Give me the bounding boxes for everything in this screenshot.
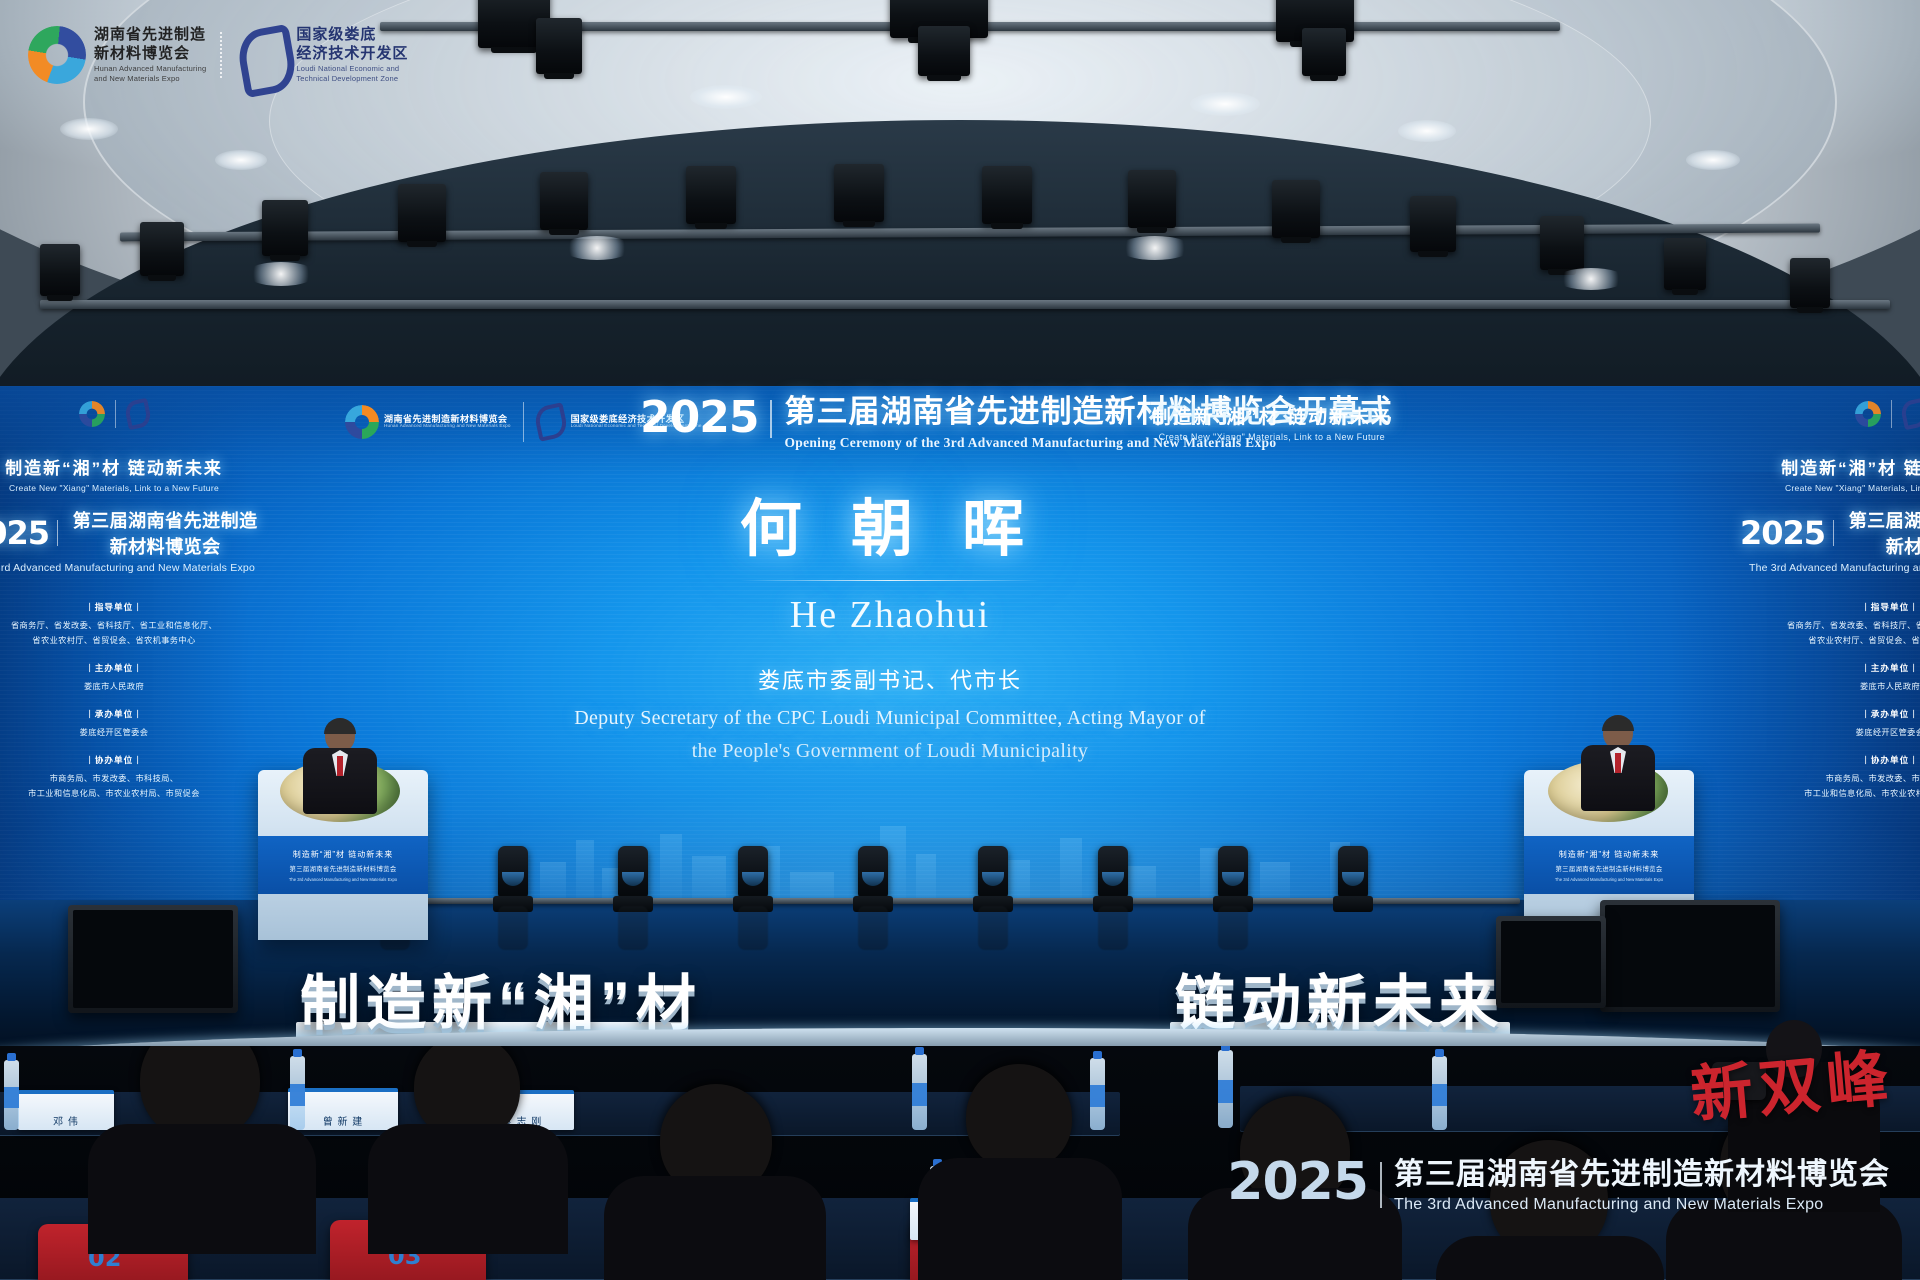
expo-wm-en-line2: and New Materials Expo: [94, 74, 206, 84]
side-slogan-en: Create New "Xiang" Materials, Link to a …: [0, 483, 264, 493]
unit-line: 省商务厅、省发改委、省科技厅、省工业和信息化厅、: [1740, 618, 1920, 633]
recessed-light: [690, 85, 762, 109]
lamp-glow: [562, 236, 632, 260]
confidence-monitor-center: [1496, 916, 1606, 1008]
unit-line: 省农业农村厅、省贸促会、省农机事务中心: [0, 633, 264, 648]
watermark-calligraphy: 新双峰: [1686, 1027, 1897, 1134]
stage-lamp: [1664, 238, 1706, 290]
audience-shoulders: [368, 1124, 568, 1254]
audience-shoulders: [88, 1124, 316, 1254]
lamp-glow: [1556, 268, 1626, 290]
moving-light-reflection: [498, 906, 528, 950]
audience-nameplate: 邓 伟: [18, 1090, 114, 1130]
moving-light-reflection: [1218, 906, 1248, 950]
side-title: 2025 第三届湖南省先进制造新材料博览会: [0, 507, 264, 559]
confidence-monitor-left: [68, 905, 238, 1013]
lamp-glow: [246, 262, 316, 286]
loudi-gf-icon: [536, 405, 566, 439]
loudi-watermark-text: 国家级娄底 经济技术开发区 Loudi National Economic an…: [296, 26, 408, 84]
podium-plate-line1: 制造新“湘”材 链动新未来: [293, 849, 394, 860]
watermark-year: 2025: [1227, 1158, 1368, 1207]
moving-light-reflection: [738, 906, 768, 950]
recessed-light: [215, 150, 267, 170]
logo-divider: [1891, 400, 1892, 428]
stage-lamp: [40, 244, 80, 296]
watermark-bottom-right: 2025 第三届湖南省先进制造新材料博览会 The 3rd Advanced M…: [1227, 1158, 1890, 1214]
speaker-at-podium-left: [300, 718, 380, 814]
side-slogan-cn: 制造新“湘”材 链动新未来: [0, 454, 264, 479]
watermark-title-cn: 第三届湖南省先进制造新材料博览会: [1394, 1158, 1890, 1191]
lighting-truss: [40, 300, 1890, 309]
name-divider: [740, 580, 1040, 581]
loudi-wm-cn-line1: 国家级娄底: [296, 26, 408, 45]
unit-line: 市商务局、市发改委、市科技局、: [1740, 771, 1920, 786]
nameplate-text: 曾 新 建: [323, 1113, 364, 1130]
stage-lamp: [834, 164, 884, 222]
loudi-wm-en-line2: Technical Development Zone: [296, 74, 408, 84]
slogan-en: Create New "Xiang" Materials, Link to a …: [1152, 432, 1392, 442]
unit-heading: 承办单位: [1740, 707, 1920, 723]
unit-line: 娄底经开区管委会: [1740, 725, 1920, 740]
moving-head-light: [618, 846, 648, 898]
stage-lamp: [1790, 258, 1830, 308]
unit-heading: 主办单位: [1740, 661, 1920, 677]
podium-plate: 制造新“湘”材 链动新未来 第三届湖南省先进制造新材料博览会 The 3rd A…: [258, 836, 428, 894]
unit-line: 省农业农村厅、省贸促会、省农机事务中心: [1740, 633, 1920, 648]
stage-lamp: [1272, 180, 1320, 238]
stage-lamp: [540, 172, 588, 230]
stage-lamp: [140, 222, 184, 276]
moving-head-light: [738, 846, 768, 898]
side-title-en: The 3rd Advanced Manufacturing and New M…: [1740, 562, 1920, 574]
side-slogan: 制造新“湘”材 链动新未来 Create New "Xiang" Materia…: [0, 454, 264, 493]
speaker-position-en-line2: the People's Government of Loudi Municip…: [300, 736, 1480, 767]
speaker-hair: [324, 718, 356, 734]
watermark-title-en: The 3rd Advanced Manufacturing and New M…: [1394, 1196, 1890, 1214]
stage-lamp: [536, 18, 582, 74]
side-title-divider: [57, 520, 58, 546]
unit-heading: 协办单位: [0, 753, 264, 769]
loudi-wm-en-line1: Loudi National Economic and: [296, 64, 408, 74]
side-title-divider: [1833, 520, 1834, 546]
led-header-slogan: 制造新“湘”材 链动新未来 Create New "Xiang" Materia…: [1152, 402, 1392, 442]
podium-plate-line3: The 3rd Advanced Manufacturing and New M…: [289, 877, 397, 882]
podium-plate-line2: 第三届湖南省先进制造新材料博览会: [1555, 864, 1662, 873]
recessed-light: [1190, 92, 1260, 116]
gear-swirl-icon: [1855, 401, 1881, 427]
stage-lamp: [1302, 28, 1346, 76]
expo-logo-en: Hunan Advanced Manufacturing and New Mat…: [384, 424, 511, 429]
led-side-panel-right: 制造新“湘”材 链动新未来 Create New "Xiang" Materia…: [1740, 400, 1920, 802]
led-header-band: 湖南省先进制造新材料博览会 Hunan Advanced Manufacturi…: [0, 386, 1920, 472]
unit-heading: 承办单位: [0, 707, 264, 723]
speaker-at-podium-right: [1578, 715, 1658, 811]
stage-lamp: [982, 166, 1032, 224]
gear-swirl-icon: [28, 26, 86, 84]
loudi-watermark-logo: 国家级娄底 经济技术开发区 Loudi National Economic an…: [236, 26, 408, 84]
side-title-year: 2025: [1740, 514, 1825, 552]
unit-heading: 协办单位: [1740, 753, 1920, 769]
podium-plate-line3: The 3rd Advanced Manufacturing and New M…: [1555, 877, 1663, 882]
logo-divider: [523, 402, 524, 442]
side-slogan: 制造新“湘”材 链动新未来 Create New "Xiang" Materia…: [1740, 454, 1920, 493]
stage-lamp: [262, 200, 308, 256]
water-bottle: [1432, 1056, 1447, 1130]
water-bottle: [912, 1054, 927, 1130]
moving-light-reflection: [618, 906, 648, 950]
expo-watermark-logo: 湖南省先进制造 新材料博览会 Hunan Advanced Manufactur…: [28, 26, 206, 84]
confidence-monitor-right: [1600, 900, 1780, 1012]
moving-head-light: [498, 846, 528, 898]
audience-head: [966, 1064, 1072, 1170]
expo-wm-en-line1: Hunan Advanced Manufacturing: [94, 64, 206, 74]
loudi-gf-icon: [236, 26, 288, 84]
side-title-cn: 第三届湖南省先进制造新材料博览会: [1842, 507, 1920, 559]
audience-shoulders: [1436, 1236, 1664, 1280]
loudi-gf-icon: [1902, 400, 1920, 428]
stage-lamp: [1540, 216, 1584, 270]
moving-light-reflection: [858, 906, 888, 950]
moving-head-light: [858, 846, 888, 898]
led-skyline-graphic: [460, 776, 1460, 906]
moving-light-reflection: [978, 906, 1008, 950]
unit-line: 娄底经开区管委会: [0, 725, 264, 740]
unit-heading: 指导单位: [0, 600, 264, 616]
lamp-glow: [1118, 236, 1192, 260]
stage-lamp: [398, 184, 446, 242]
led-title-year: 2025: [640, 396, 758, 440]
speaker-position-cn: 娄底市委副书记、代市长: [300, 663, 1480, 695]
expo-wm-cn-line2: 新材料博览会: [94, 45, 206, 64]
organizer-units-list: 指导单位 省商务厅、省发改委、省科技厅、省工业和信息化厅、 省农业农村厅、省贸促…: [1740, 600, 1920, 802]
unit-line: 市商务局、市发改委、市科技局、: [0, 771, 264, 786]
title-divider: [770, 400, 772, 438]
organizer-units-list: 指导单位 省商务厅、省发改委、省科技厅、省工业和信息化厅、 省农业农村厅、省贸促…: [0, 600, 264, 802]
moving-head-light: [1218, 846, 1248, 898]
recessed-light: [60, 118, 118, 140]
unit-line: 市工业和信息化局、市农业农村局、市贸促会: [1740, 786, 1920, 801]
nameplate-text: 邓 伟: [53, 1113, 79, 1130]
side-panel-logos: [1740, 400, 1920, 428]
stage-lamp: [686, 166, 736, 224]
speaker-name-cn: 何 朝 晖: [300, 496, 1480, 564]
gear-swirl-icon: [79, 401, 105, 427]
loudi-wm-cn-line2: 经济技术开发区: [296, 45, 408, 64]
expo-logo: 湖南省先进制造新材料博览会 Hunan Advanced Manufacturi…: [345, 405, 511, 439]
expo-wm-cn-line1: 湖南省先进制造: [94, 26, 206, 45]
gear-swirl-icon: [345, 405, 379, 439]
stage-lamp: [918, 26, 970, 76]
moving-light-reflection: [1098, 906, 1128, 950]
speaker-hair: [1602, 715, 1634, 731]
slogan-cn: 制造新“湘”材 链动新未来: [1152, 402, 1392, 429]
unit-heading: 指导单位: [1740, 600, 1920, 616]
moving-head-light: [1098, 846, 1128, 898]
logo-divider: [115, 400, 116, 428]
podium-plate-line1: 制造新“湘”材 链动新未来: [1559, 849, 1660, 860]
stage-lamp: [1410, 196, 1456, 252]
side-title-year: 2025: [0, 514, 49, 552]
moving-light-base: [1333, 896, 1373, 912]
expo-watermark-text: 湖南省先进制造 新材料博览会 Hunan Advanced Manufactur…: [94, 26, 206, 84]
speaker-position-en-line1: Deputy Secretary of the CPC Loudi Munici…: [300, 703, 1480, 734]
unit-line: 娄底市人民政府: [1740, 679, 1920, 694]
unit-line: 市工业和信息化局、市农业农村局、市贸促会: [0, 786, 264, 801]
unit-line: 娄底市人民政府: [0, 679, 264, 694]
watermark-top-left: 湖南省先进制造 新材料博览会 Hunan Advanced Manufactur…: [28, 26, 408, 84]
water-bottle: [1090, 1058, 1105, 1130]
watermark-divider: [220, 32, 222, 78]
side-title-en: The 3rd Advanced Manufacturing and New M…: [0, 562, 264, 574]
conference-photo: 湖南省先进制造新材料博览会 Hunan Advanced Manufacturi…: [0, 0, 1920, 1280]
podium-plate-line2: 第三届湖南省先进制造新材料博览会: [289, 864, 396, 873]
led-side-panel-left: 制造新“湘”材 链动新未来 Create New "Xiang" Materia…: [0, 400, 264, 802]
water-bottle: [4, 1060, 19, 1130]
watermark-divider: [1380, 1162, 1382, 1208]
side-title-cn: 第三届湖南省先进制造新材料博览会: [66, 507, 264, 559]
unit-heading: 主办单位: [0, 661, 264, 677]
recessed-light: [1398, 120, 1456, 142]
stage-lamp: [1128, 170, 1176, 228]
moving-head-light: [1338, 846, 1368, 898]
side-slogan-en: Create New "Xiang" Materials, Link to a …: [1740, 483, 1920, 493]
recessed-light: [1686, 150, 1740, 170]
side-slogan-cn: 制造新“湘”材 链动新未来: [1740, 454, 1920, 479]
side-title: 2025 第三届湖南省先进制造新材料博览会: [1740, 507, 1920, 559]
speaker-title-card: 何 朝 晖 He Zhaohui 娄底市委副书记、代市长 Deputy Secr…: [300, 496, 1480, 767]
audience-shoulders: [604, 1176, 826, 1280]
water-bottle: [290, 1056, 305, 1130]
podium-plate: 制造新“湘”材 链动新未来 第三届湖南省先进制造新材料博览会 The 3rd A…: [1524, 836, 1694, 894]
moving-head-light: [978, 846, 1008, 898]
loudi-gf-icon: [126, 400, 150, 428]
speaker-name-en: He Zhaohui: [300, 593, 1480, 637]
audience-shoulders: [918, 1158, 1122, 1280]
unit-line: 省商务厅、省发改委、省科技厅、省工业和信息化厅、: [0, 618, 264, 633]
side-panel-logos: [0, 400, 264, 428]
speaker-tie: [337, 756, 343, 776]
water-bottle: [1218, 1050, 1233, 1128]
speaker-tie: [1615, 753, 1621, 773]
